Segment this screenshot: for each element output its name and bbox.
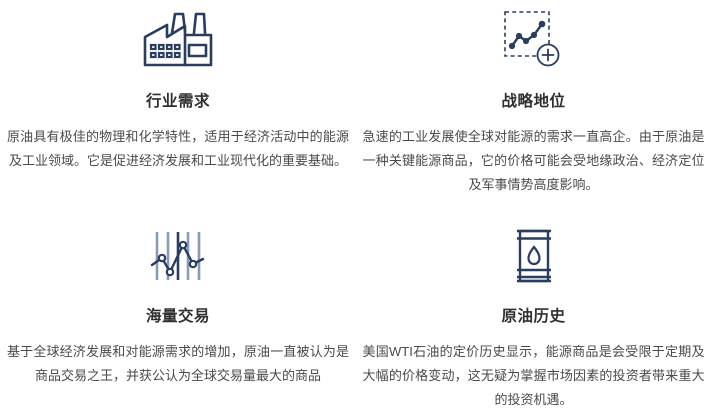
card-description: 基于全球经济发展和对能源需求的增加，原油一直被认为是商品交易之王，并获公认为全球… <box>6 340 350 388</box>
trading-volume-icon <box>149 225 207 287</box>
card-title: 原油历史 <box>501 307 565 327</box>
card-description: 原油具有极佳的物理和化学特性，适用于经济活动中的能源及工业领域。它是促进经济发展… <box>6 125 350 173</box>
card-description: 美国WTI石油的定价历史显示，能源商品是会受限于定期及大幅的价格变动，这无疑为掌… <box>362 340 706 412</box>
card-description: 急速的工业发展使全球对能源的需求一直高企。由于原油是一种关键能源商品，它的价格可… <box>362 125 706 197</box>
line-chart-add-icon <box>503 8 565 70</box>
card-title: 海量交易 <box>146 307 210 327</box>
factory-icon <box>141 8 215 70</box>
feature-card-strategic-position[interactable]: 战略地位 急速的工业发展使全球对能源的需求一直高企。由于原油是一种关键能源商品，… <box>356 0 711 207</box>
card-title: 战略地位 <box>501 92 565 112</box>
feature-card-trading-volume[interactable]: 海量交易 基于全球经济发展和对能源需求的增加，原油一直被认为是商品交易之王，并获… <box>0 207 356 414</box>
feature-grid: 行业需求 原油具有极佳的物理和化学特性，适用于经济活动中的能源及工业领域。它是促… <box>0 0 711 414</box>
feature-card-industry-demand[interactable]: 行业需求 原油具有极佳的物理和化学特性，适用于经济活动中的能源及工业领域。它是促… <box>0 0 356 207</box>
oil-barrel-icon <box>513 225 555 287</box>
card-title: 行业需求 <box>146 92 210 112</box>
feature-card-crude-oil-history[interactable]: 原油历史 美国WTI石油的定价历史显示，能源商品是会受限于定期及大幅的价格变动，… <box>356 207 711 414</box>
